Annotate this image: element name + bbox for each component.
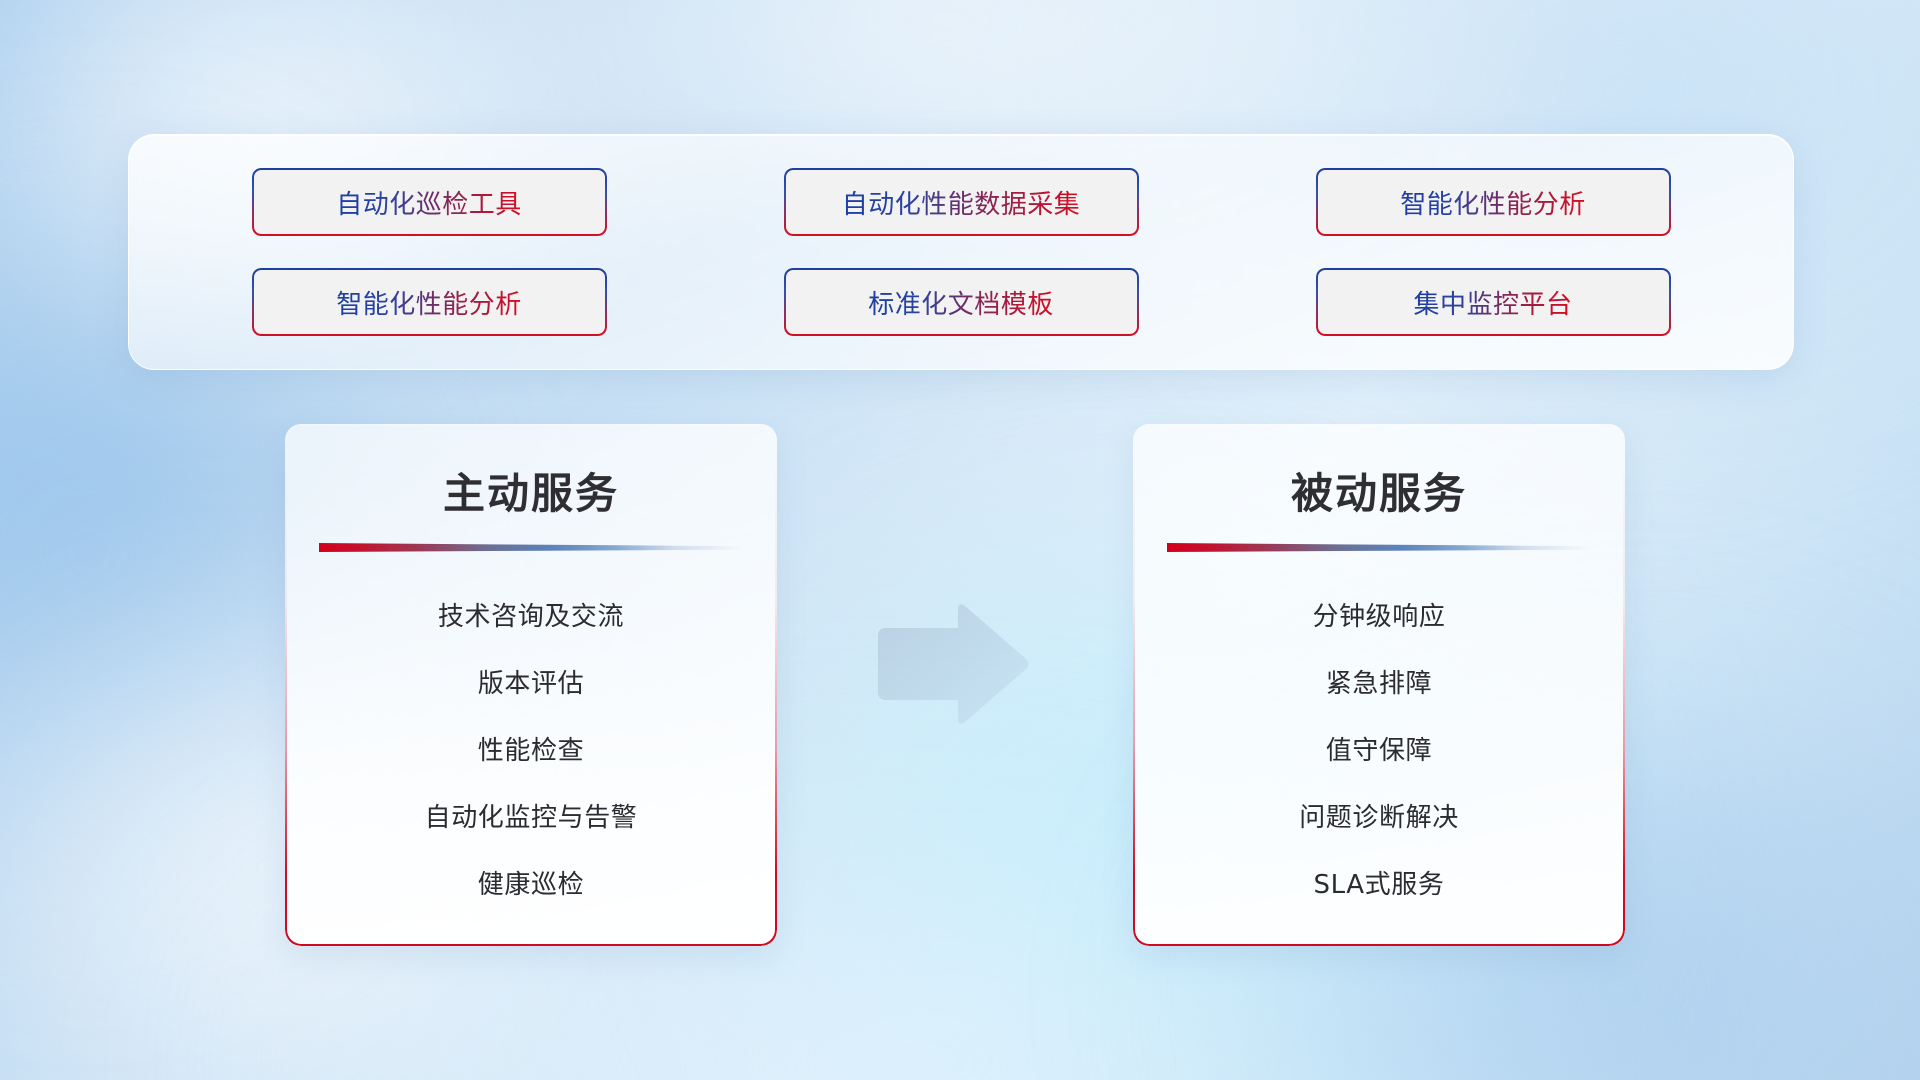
capability-panel: 自动化巡检工具 自动化性能数据采集 智能化性能分析 智能化性能分析 标准化文档模…	[128, 134, 1794, 370]
title-divider	[319, 543, 743, 552]
list-item[interactable]: 自动化监控与告警	[425, 797, 638, 834]
list-item[interactable]: 技术咨询及交流	[438, 596, 624, 633]
service-card-reactive: 被动服务 分钟级响应 紧急排障 值守保障 问题诊断解决 SLA式服务	[1133, 424, 1625, 946]
list-item[interactable]: 问题诊断解决	[1299, 797, 1459, 834]
capability-pill-label: 集中监控平台	[1413, 284, 1572, 321]
list-item[interactable]: 值守保障	[1326, 730, 1432, 767]
list-item[interactable]: 分钟级响应	[1312, 596, 1445, 633]
capability-pill-label: 自动化巡检工具	[336, 184, 522, 221]
list-item[interactable]: 性能检查	[478, 730, 584, 767]
capability-pill-automation-inspection-tool[interactable]: 自动化巡检工具	[252, 168, 607, 236]
capability-pill-standardized-doc-template[interactable]: 标准化文档模板	[784, 268, 1139, 336]
list-item[interactable]: 紧急排障	[1326, 663, 1432, 700]
service-card-proactive: 主动服务 技术咨询及交流 版本评估 性能检查 自动化监控与告警 健康巡检	[285, 424, 777, 946]
capability-pill-automated-performance-data-collection[interactable]: 自动化性能数据采集	[784, 168, 1139, 236]
arrow-right-icon	[872, 600, 1032, 728]
capability-pill-centralized-monitoring-platform[interactable]: 集中监控平台	[1316, 268, 1671, 336]
capability-pill-label: 智能化性能分析	[1400, 184, 1586, 221]
card-title-proactive: 主动服务	[285, 460, 777, 521]
list-item[interactable]: SLA式服务	[1314, 864, 1445, 901]
capability-pill-intelligent-performance-analysis-1[interactable]: 智能化性能分析	[1316, 168, 1671, 236]
capability-pill-label: 智能化性能分析	[336, 284, 522, 321]
service-list-reactive: 分钟级响应 紧急排障 值守保障 问题诊断解决 SLA式服务	[1133, 552, 1625, 901]
capability-pill-label: 标准化文档模板	[868, 284, 1054, 321]
title-divider	[1167, 543, 1591, 552]
service-list-proactive: 技术咨询及交流 版本评估 性能检查 自动化监控与告警 健康巡检	[285, 552, 777, 901]
capability-pill-label: 自动化性能数据采集	[842, 184, 1081, 221]
card-title-reactive: 被动服务	[1133, 460, 1625, 521]
capability-pill-intelligent-performance-analysis-2[interactable]: 智能化性能分析	[252, 268, 607, 336]
list-item[interactable]: 健康巡检	[478, 864, 584, 901]
list-item[interactable]: 版本评估	[478, 663, 584, 700]
